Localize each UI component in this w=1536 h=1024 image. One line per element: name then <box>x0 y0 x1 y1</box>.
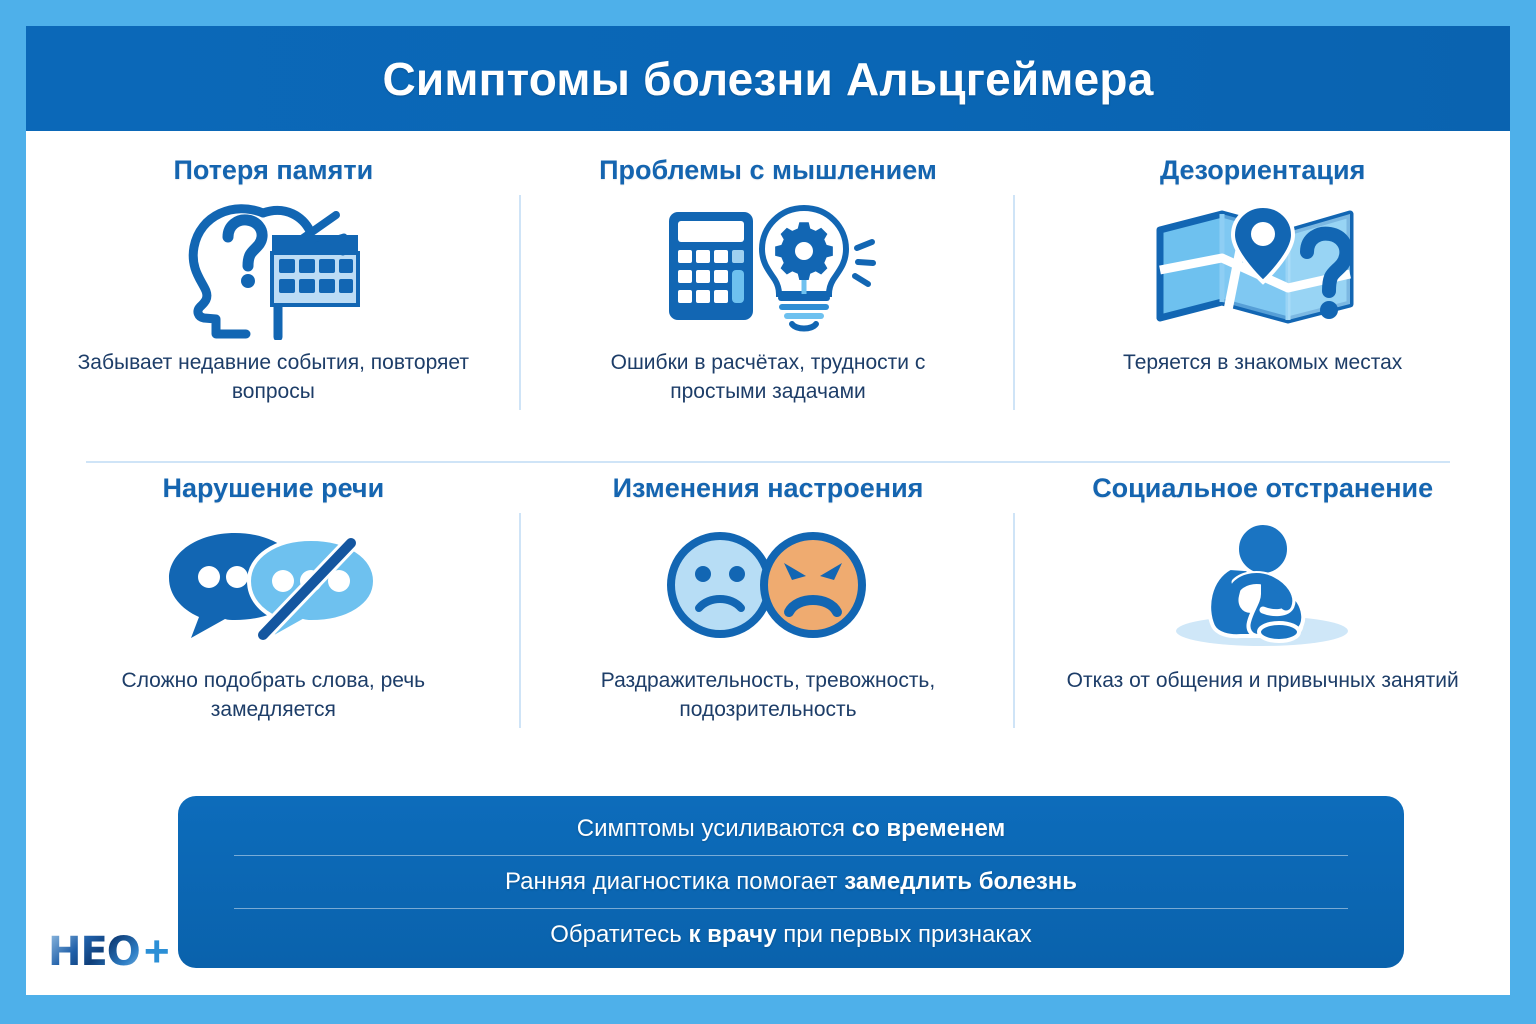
card-title: Проблемы с мышлением <box>599 155 937 186</box>
panel-line-bold: к врачу <box>688 921 776 948</box>
symptoms-row-1: Потеря памяти <box>26 153 1510 453</box>
card-description: Сложно подобрать слова, речь замедляется <box>73 666 473 724</box>
symptom-card-memory-loss[interactable]: Потеря памяти <box>26 153 521 453</box>
panel-line-progression: Симптомы усиливаются со временем <box>234 803 1348 855</box>
card-title: Социальное отстранение <box>1092 473 1433 504</box>
sad-angry-faces-icon <box>539 510 998 660</box>
symptom-card-thinking-problems[interactable]: Проблемы с мышлением <box>521 153 1016 453</box>
symptom-card-disorientation[interactable]: Дезориентация <box>1015 153 1510 453</box>
head-question-calendar-icon <box>44 192 503 342</box>
panel-line-bold: со временем <box>852 815 1006 842</box>
card-description: Раздражительность, тревожность, подозрит… <box>568 666 968 724</box>
symptoms-grid: Потеря памяти <box>26 131 1510 771</box>
header-bar: Симптомы болезни Альцгеймера <box>26 26 1510 131</box>
panel-line-plain: Симптомы усиливаются <box>577 815 852 842</box>
panel-line-see-doctor: Обратитесь к врачу при первых признаках <box>234 908 1348 961</box>
card-description: Теряется в знакомых местах <box>1123 348 1402 377</box>
logo: НЕО+ <box>48 927 169 977</box>
panel-line-plain: Ранняя диагностика помогает <box>505 868 844 895</box>
panel-line-early-diagnosis: Ранняя диагностика помогает замедлить бо… <box>234 855 1348 908</box>
card-description: Забывает недавние события, повторяет воп… <box>73 348 473 406</box>
calculator-lightbulb-gear-icon <box>539 192 998 342</box>
card-description: Отказ от общения и привычных занятий <box>1067 666 1459 695</box>
card-title: Нарушение речи <box>162 473 384 504</box>
symptom-card-social-withdrawal[interactable]: Социальное отстранение <box>1015 471 1510 771</box>
symptoms-row-2: Нарушение речи <box>26 471 1510 771</box>
logo-text: НЕО <box>48 929 140 975</box>
panel-line-plain-2: при первых признаках <box>777 921 1032 948</box>
speech-bubbles-slash-icon <box>44 510 503 660</box>
logo-plus-icon: + <box>144 927 169 977</box>
symptom-card-speech-impairment[interactable]: Нарушение речи <box>26 471 521 771</box>
map-pin-question-icon <box>1033 192 1492 342</box>
page-title: Симптомы болезни Альцгеймера <box>382 52 1153 106</box>
card-title: Потеря памяти <box>173 155 373 186</box>
card-title: Изменения настроения <box>613 473 924 504</box>
panel-line-bold: замедлить болезнь <box>844 868 1077 895</box>
card-description: Ошибки в расчётах, трудности с простыми … <box>568 348 968 406</box>
symptom-card-mood-changes[interactable]: Изменения настроения <box>521 471 1016 771</box>
key-messages-panel: Симптомы усиливаются со временем Ранняя … <box>178 796 1404 968</box>
poster: Симптомы болезни Альцгеймера Потеря памя… <box>26 26 1510 995</box>
card-title: Дезориентация <box>1160 155 1365 186</box>
panel-line-plain: Обратитесь <box>550 921 688 948</box>
row-divider <box>86 461 1450 463</box>
sitting-hunched-person-icon <box>1033 510 1492 660</box>
